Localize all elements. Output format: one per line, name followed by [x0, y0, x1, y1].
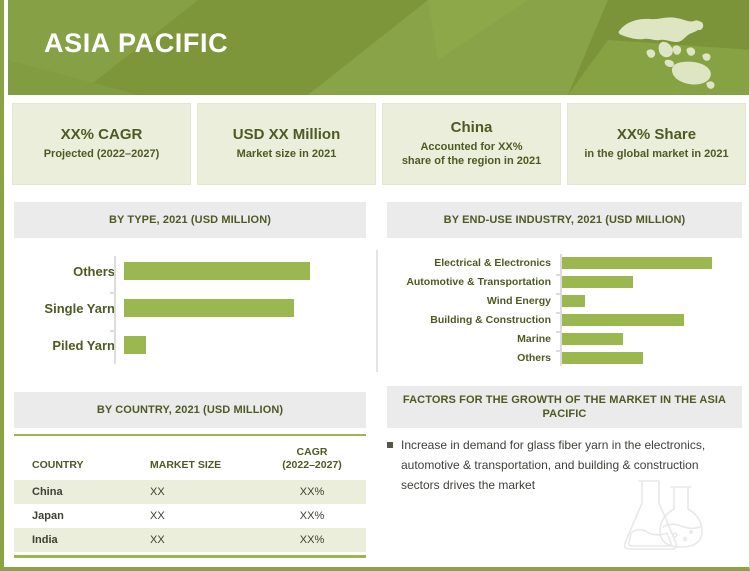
- column-divider: [376, 250, 378, 372]
- bar-by-enduse-1: [560, 276, 633, 288]
- axis-tick-by-enduse-4: [556, 350, 560, 352]
- kpi-market-size-value: USD XX Million: [233, 126, 341, 145]
- axis-tick-by-type-1: [110, 330, 114, 332]
- table-row: India XX XX%: [14, 528, 366, 552]
- cell-country-0: China: [14, 486, 150, 498]
- bar-by-enduse-5: [560, 352, 643, 364]
- asia-pacific-map-icon: [604, 8, 734, 90]
- bar-label-by-type-2: Piled Yarn: [14, 338, 124, 353]
- bar-track-by-enduse-5: [560, 352, 742, 364]
- bar-label-by-enduse-0: Electrical & Electronics: [387, 257, 560, 269]
- kpi-cagr-caption: Projected (2022–2027): [44, 147, 160, 162]
- table-header-row: COUNTRY MARKET SIZE CAGR (2022–2027): [14, 434, 366, 480]
- kpi-card-china-share: China Accounted for XX%share of the regi…: [382, 103, 561, 185]
- country-table: COUNTRY MARKET SIZE CAGR (2022–2027) Chi…: [14, 434, 366, 558]
- bar-by-enduse-0: [560, 257, 712, 269]
- bar-track-by-enduse-2: [560, 295, 742, 307]
- bar-label-by-enduse-3: Building & Construction: [387, 314, 560, 326]
- section-header-by-country: BY COUNTRY, 2021 (USD MILLION): [14, 392, 366, 428]
- kpi-card-global-share: XX% Share in the global market in 2021: [567, 103, 746, 185]
- axis-tick-by-type-0: [110, 292, 114, 294]
- axis-tick-by-enduse-2: [556, 312, 560, 314]
- bar-label-by-enduse-2: Wind Energy: [387, 295, 560, 307]
- bar-by-type-2: [124, 336, 146, 354]
- section-header-factors-label: FACTORS FOR THE GROWTH OF THE MARKET IN …: [395, 393, 734, 422]
- axis-tick-by-enduse-1: [556, 293, 560, 295]
- kpi-china-value: China: [451, 119, 493, 138]
- bar-by-type-0: [124, 262, 310, 280]
- bar-label-by-enduse-5: Others: [387, 352, 560, 364]
- laboratory-flasks-icon: [605, 477, 713, 553]
- axis-line-by-type: [114, 256, 116, 364]
- bar-label-by-enduse-1: Automotive & Transportation: [387, 276, 560, 288]
- table-row: China XX XX%: [14, 480, 366, 504]
- section-header-by-end-use-industry-label: BY END-USE INDUSTRY, 2021 (USD MILLION): [444, 213, 686, 227]
- kpi-market-size-caption: Market size in 2021: [237, 147, 337, 162]
- bar-track-by-enduse-3: [560, 314, 742, 326]
- cell-cagr-1: XX%: [258, 510, 366, 522]
- cell-cagr-2: XX%: [258, 534, 366, 546]
- cell-market-size-1: XX: [150, 510, 258, 522]
- kpi-cagr-value: XX% CAGR: [61, 126, 143, 145]
- axis-tick-by-enduse-0: [556, 274, 560, 276]
- cell-market-size-2: XX: [150, 534, 258, 546]
- cell-market-size-0: XX: [150, 486, 258, 498]
- page-title: ASIA PACIFIC: [44, 28, 228, 59]
- bar-by-type-1: [124, 299, 294, 317]
- chart-by-type: Others Single Yarn Piled Yarn: [14, 246, 366, 376]
- bar-track-by-enduse-1: [560, 276, 742, 288]
- section-header-by-type: BY TYPE, 2021 (USD MILLION): [14, 202, 366, 238]
- column-header-cagr-line1: CAGR: [258, 446, 366, 459]
- column-header-cagr: CAGR (2022–2027): [258, 446, 366, 480]
- bar-label-by-enduse-4: Marine: [387, 333, 560, 345]
- bar-track-by-enduse-4: [560, 333, 742, 345]
- cell-country-2: India: [14, 534, 150, 546]
- kpi-card-row: XX% CAGR Projected (2022–2027) USD XX Mi…: [12, 103, 746, 185]
- chart-by-end-use-industry: Electrical & Electronics Automotive & Tr…: [387, 246, 742, 376]
- cell-country-1: Japan: [14, 510, 150, 522]
- section-header-by-type-label: BY TYPE, 2021 (USD MILLION): [109, 213, 271, 227]
- section-header-by-country-label: BY COUNTRY, 2021 (USD MILLION): [97, 403, 283, 417]
- column-header-cagr-line2: (2022–2027): [258, 459, 366, 472]
- bar-track-by-type-0: [124, 262, 366, 280]
- table-bottom-rule: [14, 555, 366, 558]
- table-row: Japan XX XX%: [14, 504, 366, 528]
- section-header-by-end-use-industry: BY END-USE INDUSTRY, 2021 (USD MILLION): [387, 202, 742, 238]
- bar-track-by-enduse-0: [560, 257, 742, 269]
- cell-cagr-0: XX%: [258, 486, 366, 498]
- axis-line-by-end-use-industry: [560, 254, 562, 366]
- kpi-global-share-caption: in the global market in 2021: [584, 147, 728, 162]
- bullet-square-icon: [387, 442, 393, 448]
- bar-track-by-type-1: [124, 299, 366, 317]
- bar-track-by-type-2: [124, 336, 366, 354]
- bar-by-enduse-3: [560, 314, 684, 326]
- header-banner: ASIA PACIFIC: [8, 0, 750, 95]
- kpi-global-share-value: XX% Share: [617, 126, 696, 145]
- bar-by-enduse-4: [560, 333, 623, 345]
- kpi-china-caption: Accounted for XX%share of the region in …: [402, 140, 541, 169]
- kpi-card-cagr: XX% CAGR Projected (2022–2027): [12, 103, 191, 185]
- kpi-card-market-size: USD XX Million Market size in 2021: [197, 103, 376, 185]
- asia-pacific-infographic: ASIA PACIFIC XX% CAGR Projected (2022–20…: [0, 0, 750, 571]
- column-header-country: COUNTRY: [14, 459, 150, 480]
- column-header-market-size: MARKET SIZE: [150, 459, 258, 480]
- bar-label-by-type-0: Others: [14, 264, 124, 279]
- bar-by-enduse-2: [560, 295, 585, 307]
- axis-tick-by-enduse-3: [556, 331, 560, 333]
- section-header-factors: FACTORS FOR THE GROWTH OF THE MARKET IN …: [387, 386, 742, 428]
- bar-label-by-type-1: Single Yarn: [14, 301, 124, 316]
